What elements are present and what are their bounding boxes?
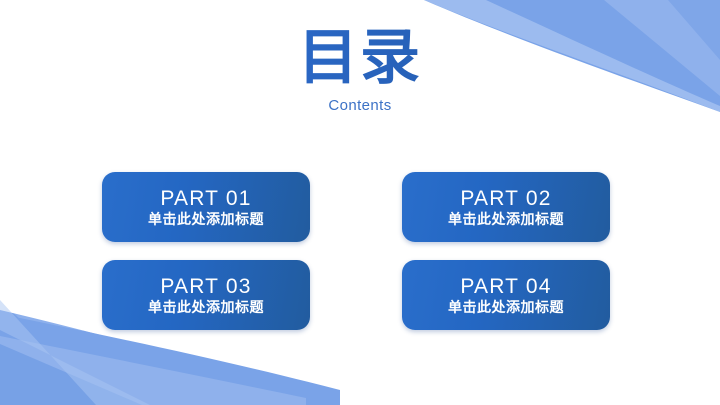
toc-card-subtitle: 单击此处添加标题	[148, 213, 264, 228]
decor-shape-bottom-left-light	[0, 348, 300, 405]
page-title: 目录	[0, 26, 720, 91]
toc-card-part-label: PART 02	[460, 187, 551, 210]
slide-canvas: 目录 Contents PART 01 单击此处添加标题 PART 02 单击此…	[0, 0, 720, 405]
toc-card-part-01[interactable]: PART 01 单击此处添加标题	[102, 172, 310, 242]
page-subtitle: Contents	[0, 97, 720, 114]
slide-heading: 目录 Contents	[0, 26, 720, 114]
decor-shape-bottom-left-mid	[0, 318, 330, 405]
decor-shape-bottom-left-dark	[0, 340, 150, 405]
toc-card-subtitle: 单击此处添加标题	[448, 301, 564, 316]
toc-card-subtitle: 单击此处添加标题	[448, 213, 564, 228]
toc-card-part-label: PART 03	[160, 275, 251, 298]
decor-shape-bottom-left-final-dark	[0, 344, 142, 405]
toc-card-subtitle: 单击此处添加标题	[148, 301, 264, 316]
toc-card-part-04[interactable]: PART 04 单击此处添加标题	[402, 260, 610, 330]
toc-card-part-02[interactable]: PART 02 单击此处添加标题	[402, 172, 610, 242]
toc-card-part-label: PART 04	[460, 275, 551, 298]
decor-shape-bottom-left-final-light	[0, 336, 306, 405]
toc-card-part-label: PART 01	[160, 187, 251, 210]
toc-card-part-03[interactable]: PART 03 单击此处添加标题	[102, 260, 310, 330]
